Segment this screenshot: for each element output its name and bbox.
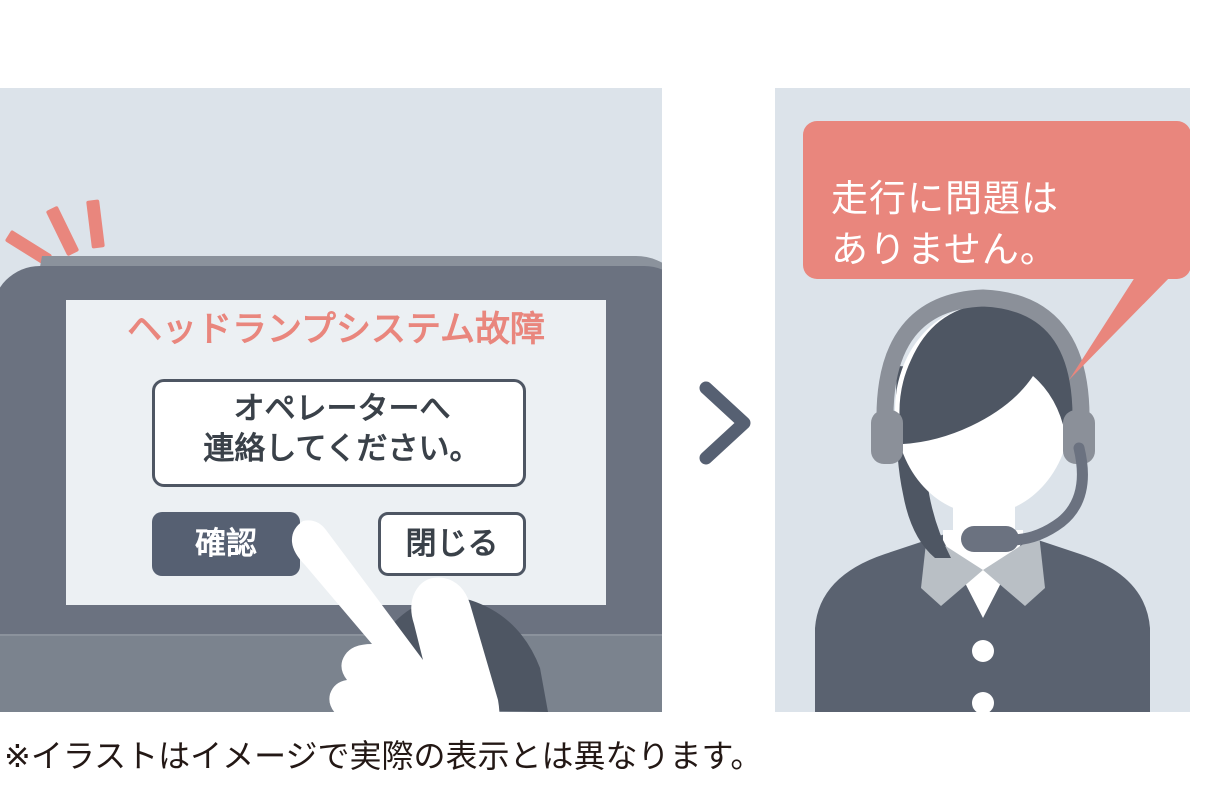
console-base — [0, 634, 662, 712]
speech-bubble-text: 走行に問題は ありません。 — [831, 173, 1161, 275]
alert-burst-icon — [86, 199, 105, 248]
speech-bubble: 走行に問題は ありません。 — [803, 121, 1190, 279]
jacket-button — [972, 640, 994, 662]
confirm-button[interactable]: 確認 — [152, 512, 300, 576]
console-base-divider — [0, 634, 662, 636]
disclaimer-caption: ※イラストはイメージで実際の表示とは異なります。 — [4, 740, 762, 772]
chevron-right-icon — [690, 378, 760, 468]
speech-bubble-tail-icon — [1065, 274, 1175, 384]
alert-burst-icon — [46, 206, 80, 257]
message-box: オペレーターへ 連絡してください。 — [152, 379, 526, 487]
close-button[interactable]: 閉じる — [378, 512, 526, 576]
headset-microphone — [961, 526, 1019, 552]
headset-earpiece — [871, 410, 903, 464]
message-text: オペレーターへ 連絡してください。 — [155, 389, 529, 468]
alert-title: ヘッドランプシステム故障 — [66, 312, 606, 347]
vehicle-display-panel: ヘッドランプシステム故障 オペレーターへ 連絡してください。 確認 閉じる — [0, 88, 662, 712]
operator-panel: 走行に問題は ありません。 — [775, 88, 1190, 712]
